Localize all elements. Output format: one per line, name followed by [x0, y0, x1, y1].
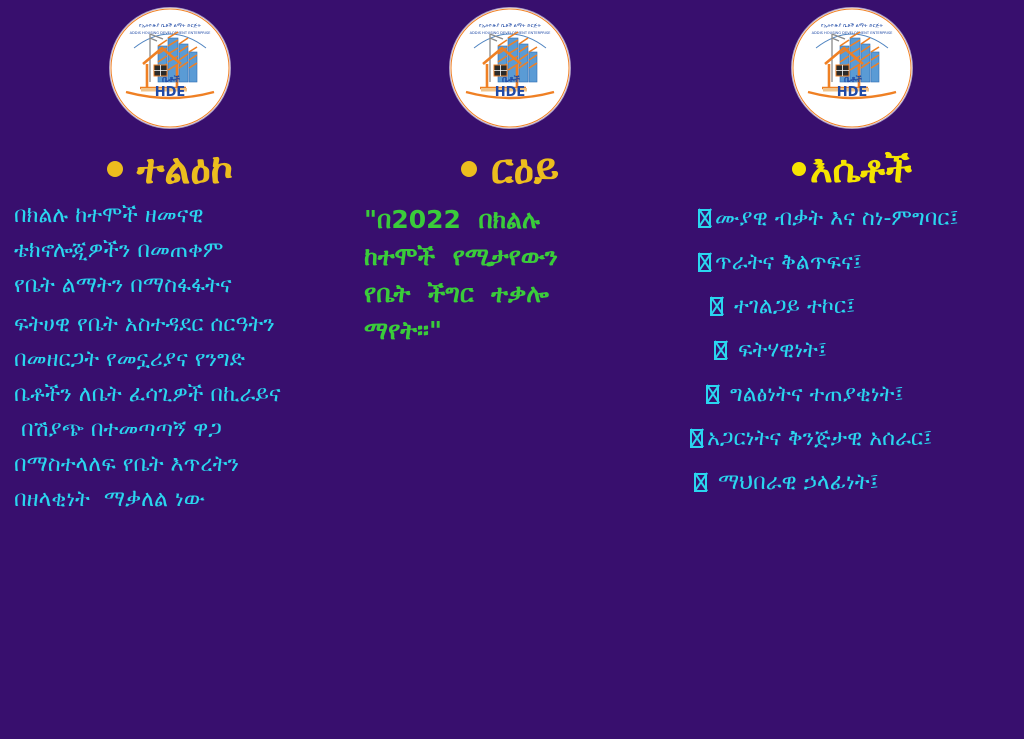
hde-logo: የኢትዮጵያ ቤቶች ልማት ድርጅት ADDIS HOUSING DEVELO… — [792, 8, 912, 128]
bullet-dot-icon — [792, 162, 806, 176]
svg-text:HDE: HDE — [155, 85, 186, 100]
value-item: ሙያዊ ብቃት እና ስነ-ምግባር፤ — [686, 208, 1024, 230]
value-item: ፍትሃዊነት፤ — [686, 340, 1024, 362]
missing-glyph-box-icon — [714, 341, 727, 360]
bullet-dot-icon — [107, 161, 123, 177]
svg-text:ADDIS HOUSING DEVELOPMENT ENTE: ADDIS HOUSING DEVELOPMENT ENTERPRISE — [812, 31, 894, 35]
heading-mission: ተልዕኮ — [0, 148, 340, 191]
heading-mission-label: ተልዕኮ — [137, 145, 234, 193]
value-item-label: ፍትሃዊነት፤ — [731, 338, 827, 363]
svg-text:ADDIS HOUSING DEVELOPMENT ENTE: ADDIS HOUSING DEVELOPMENT ENTERPRISE — [470, 31, 552, 35]
svg-text:ቤቶች: ቤቶች — [162, 74, 181, 85]
missing-glyph-box-icon — [690, 429, 703, 448]
column-mission: የኢትዮጵያ ቤቶች ልማት ድርጅት ADDIS HOUSING DEVELO… — [0, 0, 340, 739]
svg-text:ADDIS HOUSING DEVELOPMENT ENTE: ADDIS HOUSING DEVELOPMENT ENTERPRISE — [130, 31, 212, 35]
value-item-label: ጥራትና ቅልጥፍና፤ — [715, 250, 862, 275]
missing-glyph-box-icon — [694, 473, 707, 492]
body-vision: "በ2022 በክልሉ ከተሞች የሚታየውን የቤት ችግር ተቃሎ ማየት፡… — [340, 207, 680, 343]
vision-line: ማየት፡፡" — [364, 318, 680, 343]
missing-glyph-box-icon — [698, 253, 711, 272]
missing-glyph-box-icon — [706, 385, 719, 404]
logo-wrap-values: የኢትዮጵያ ቤቶች ልማት ድርጅት ADDIS HOUSING DEVELO… — [680, 0, 1024, 128]
heading-vision: ርዕይ — [340, 148, 680, 191]
value-item: ግልፅነትና ተጠያቂነት፤ — [686, 384, 1024, 406]
mission-line: በዘላቂነት ማቃለል ነው — [0, 489, 340, 511]
heading-values: እሴቶች — [680, 150, 1024, 190]
logo-wrap-mission: የኢትዮጵያ ቤቶች ልማት ድርጅት ADDIS HOUSING DEVELO… — [0, 0, 340, 128]
missing-glyph-box-icon — [698, 209, 711, 228]
vision-line: የቤት ችግር ተቃሎ — [364, 281, 680, 306]
svg-text:HDE: HDE — [495, 85, 526, 100]
column-values: የኢትዮጵያ ቤቶች ልማት ድርጅት ADDIS HOUSING DEVELO… — [680, 0, 1024, 739]
heading-values-label: እሴቶች — [810, 147, 912, 191]
body-mission: በክልሉ ከተሞች ዘመናዊ ቴክኖሎጂዎችን በመጠቀም የቤት ልማትን በ… — [0, 205, 340, 511]
value-item-label: አጋርነትና ቅንጅታዊ አሰራር፤ — [707, 426, 932, 451]
value-item-label: ተገልጋይ ተኮር፤ — [727, 294, 855, 319]
svg-text:HDE: HDE — [837, 85, 868, 100]
logo-wrap-vision: የኢትዮጵያ ቤቶች ልማት ድርጅት ADDIS HOUSING DEVELO… — [340, 0, 680, 128]
mission-line: የቤት ልማትን በማስፋፋትና — [0, 275, 340, 297]
body-values: ሙያዊ ብቃት እና ስነ-ምግባር፤ ጥራትና ቅልጥፍና፤ ተገልጋይ ተኮ… — [680, 208, 1024, 494]
missing-glyph-box-icon — [710, 297, 723, 316]
value-item: አጋርነትና ቅንጅታዊ አሰራር፤ — [686, 428, 1024, 450]
mission-line: ቤቶችን ለቤት ፈሳጊዎች በኪራይና — [0, 384, 340, 406]
mission-line: በማስተላለፍ የቤት እጥረትን — [0, 454, 340, 476]
column-vision: የኢትዮጵያ ቤቶች ልማት ድርጅት ADDIS HOUSING DEVELO… — [340, 0, 680, 739]
heading-vision-label: ርዕይ — [491, 145, 559, 193]
mission-line: በመዘርጋት የመኗሪያና የንግድ — [0, 349, 340, 371]
svg-text:ቤቶች: ቤቶች — [502, 74, 521, 85]
mission-line: በሽያጭ በተመጣጣኝ ዋጋ — [0, 419, 340, 441]
mission-line: በክልሉ ከተሞች ዘመናዊ — [0, 205, 340, 227]
hde-logo: የኢትዮጵያ ቤቶች ልማት ድርጅት ADDIS HOUSING DEVELO… — [110, 8, 230, 128]
value-item: ጥራትና ቅልጥፍና፤ — [686, 252, 1024, 274]
poster-board: የኢትዮጵያ ቤቶች ልማት ድርጅት ADDIS HOUSING DEVELO… — [0, 0, 1024, 739]
value-item: ማህበራዊ ኃላፊነት፤ — [686, 472, 1024, 494]
svg-text:ቤቶች: ቤቶች — [844, 74, 863, 85]
hde-logo: የኢትዮጵያ ቤቶች ልማት ድርጅት ADDIS HOUSING DEVELO… — [450, 8, 570, 128]
svg-text:የኢትዮጵያ ቤቶች ልማት ድርጅት: የኢትዮጵያ ቤቶች ልማት ድርጅት — [479, 22, 541, 29]
value-item-label: ግልፅነትና ተጠያቂነት፤ — [723, 382, 903, 407]
vision-line: ከተሞች የሚታየውን — [364, 244, 680, 269]
mission-line: ፍትሀዊ የቤት አስተዳደር ሰርዓትን — [0, 314, 340, 336]
vision-line: "በ2022 በክልሉ — [364, 207, 680, 232]
bullet-dot-icon — [461, 161, 477, 177]
value-item-label: ማህበራዊ ኃላፊነት፤ — [711, 470, 879, 495]
value-item: ተገልጋይ ተኮር፤ — [686, 296, 1024, 318]
svg-text:የኢትዮጵያ ቤቶች ልማት ድርጅት: የኢትዮጵያ ቤቶች ልማት ድርጅት — [139, 22, 201, 29]
mission-line: ቴክኖሎጂዎችን በመጠቀም — [0, 240, 340, 262]
svg-text:የኢትዮጵያ ቤቶች ልማት ድርጅት: የኢትዮጵያ ቤቶች ልማት ድርጅት — [821, 22, 883, 29]
value-item-label: ሙያዊ ብቃት እና ስነ-ምግባር፤ — [715, 206, 959, 231]
